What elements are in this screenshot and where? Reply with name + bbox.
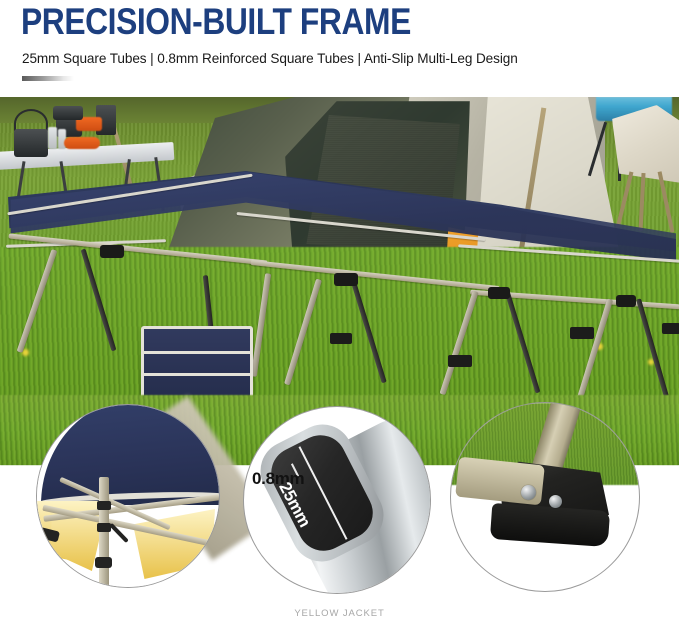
- cot-leg: [577, 298, 613, 399]
- cot-side-rail: [250, 260, 499, 291]
- cot-leg: [505, 291, 541, 394]
- center-post: [99, 477, 109, 588]
- cot-foot: [662, 323, 679, 334]
- cot-leg: [636, 298, 669, 397]
- cot-fabric-closeup: [41, 404, 220, 505]
- brand-watermark: YELLOW JACKET: [0, 608, 679, 619]
- pocket-trim: [144, 373, 250, 376]
- cot-joint: [334, 273, 358, 286]
- accent-divider: [22, 76, 74, 81]
- cot-leg: [17, 249, 58, 353]
- cot-foot: [570, 327, 594, 339]
- cot-foot: [448, 355, 472, 367]
- detail-circle-anti-slip-foot: [450, 402, 640, 592]
- cot-fabric-sheen: [4, 169, 676, 309]
- page-subtitle: 25mm Square Tubes | 0.8mm Reinforced Squ…: [22, 50, 518, 68]
- cot-leg: [284, 279, 322, 386]
- cot-joint: [488, 287, 510, 299]
- cot-leg: [439, 291, 478, 396]
- product-feature-banner: PRECISION-BUILT FRAME 25mm Square Tubes …: [0, 0, 679, 633]
- cot-leg: [251, 273, 271, 377]
- header: PRECISION-BUILT FRAME 25mm Square Tubes …: [0, 0, 679, 97]
- cot-leg: [81, 249, 117, 352]
- cot-leg: [350, 279, 386, 384]
- page-title: PRECISION-BUILT FRAME: [21, 2, 411, 42]
- post-collar: [97, 501, 111, 510]
- post-foot: [95, 557, 112, 568]
- foot-base-pad: [490, 503, 610, 547]
- cot-foot: [330, 333, 352, 344]
- pocket-trim: [144, 351, 250, 354]
- rivet: [521, 485, 536, 500]
- rivet: [549, 495, 562, 508]
- detail-circle-frame-legs: [36, 404, 220, 588]
- cot-joint: [100, 245, 124, 258]
- detail-canvas: [37, 405, 219, 587]
- cot-joint: [616, 295, 636, 307]
- detail-circle-tube-gauge: 0.8mm 25mm: [243, 406, 431, 594]
